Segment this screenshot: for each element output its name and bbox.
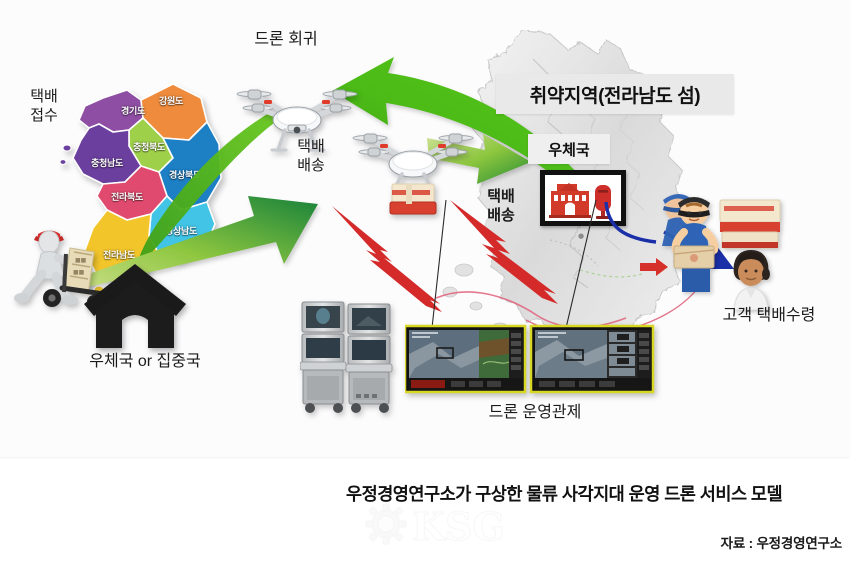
customer-icon xyxy=(722,248,780,310)
section-divider xyxy=(0,457,850,459)
drone-control-label: 드론 운영관제 xyxy=(455,403,615,423)
source-line: 자료 : 우정경영연구소 xyxy=(721,532,842,552)
control-monitor-screens-icon xyxy=(405,324,655,400)
headline: 우정경영연구소가 구상한 물류 사각지대 운영 드론 서비스 모델 xyxy=(346,481,842,506)
postman-icon xyxy=(648,188,726,296)
air-parcel-delivery-label: 택배 배송 xyxy=(288,138,334,176)
island-parcel-delivery-label: 택배 배송 xyxy=(478,188,524,226)
vulnerable-area-title-box: 취약지역(전라남도 섬) xyxy=(496,74,734,114)
post-office-or-hub-label: 우체국 or 집중국 xyxy=(62,352,228,372)
parcel-intake-label: 택배 접수 xyxy=(13,88,75,126)
infographic-page: ● xyxy=(0,0,850,561)
caption-block: 우정경영연구소가 구상한 물류 사각지대 운영 드론 서비스 모델 자료 : 우… xyxy=(0,460,850,561)
customer-receipt-label: 고객 택배수령 xyxy=(700,306,838,326)
parcel-stack-icon xyxy=(718,196,784,252)
illustration-panel: ● xyxy=(0,0,850,458)
ground-control-station-icon xyxy=(300,300,396,415)
drone-return-label: 드론 회귀 xyxy=(232,30,340,50)
post-office-label-box: 우체국 xyxy=(528,134,610,164)
house-icon xyxy=(80,262,190,350)
